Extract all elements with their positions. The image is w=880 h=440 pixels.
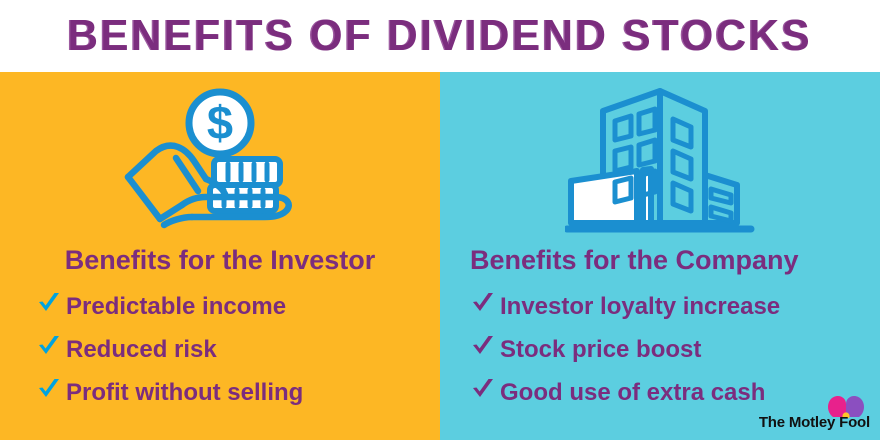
panels-container: $ xyxy=(0,72,880,440)
panel-heading-investor: Benefits for the Investor xyxy=(0,244,440,276)
check-icon xyxy=(36,377,62,401)
list-item-label: Good use of extra cash xyxy=(500,378,765,408)
check-icon xyxy=(36,334,62,358)
list-item-label: Profit without selling xyxy=(66,378,303,408)
list-item: Investor loyalty increase xyxy=(470,290,880,322)
list-item: Stock price boost xyxy=(470,333,880,365)
list-item-label: Predictable income xyxy=(66,292,286,322)
panel-investor: $ xyxy=(0,72,440,440)
panel-heading-company: Benefits for the Company xyxy=(440,244,880,276)
page-title: BENEFITS OF DIVIDEND STOCKS xyxy=(68,13,813,59)
check-icon xyxy=(470,334,496,358)
infographic-root: BENEFITS OF DIVIDEND STOCKS $ xyxy=(0,0,880,440)
list-item: Reduced risk xyxy=(36,333,440,365)
list-item-label: Stock price boost xyxy=(500,335,701,365)
list-item: Profit without selling xyxy=(36,376,440,408)
svg-text:$: $ xyxy=(207,96,233,149)
list-item-label: Investor loyalty increase xyxy=(500,292,780,322)
list-item-label: Reduced risk xyxy=(66,335,217,365)
check-icon xyxy=(470,291,496,315)
motley-fool-logo[interactable]: The Motley Fool xyxy=(759,399,870,431)
benefit-list-investor: Predictable income Reduced risk xyxy=(0,290,440,419)
logo-wordmark: The Motley Fool xyxy=(759,415,870,431)
office-building-icon xyxy=(440,80,880,240)
panel-company: Benefits for the Company Investor loyalt… xyxy=(440,72,880,440)
check-icon xyxy=(36,291,62,315)
header-band: BENEFITS OF DIVIDEND STOCKS xyxy=(0,0,880,72)
hand-holding-coins-icon: $ xyxy=(0,80,440,240)
list-item: Predictable income xyxy=(36,290,440,322)
check-icon xyxy=(470,377,496,401)
